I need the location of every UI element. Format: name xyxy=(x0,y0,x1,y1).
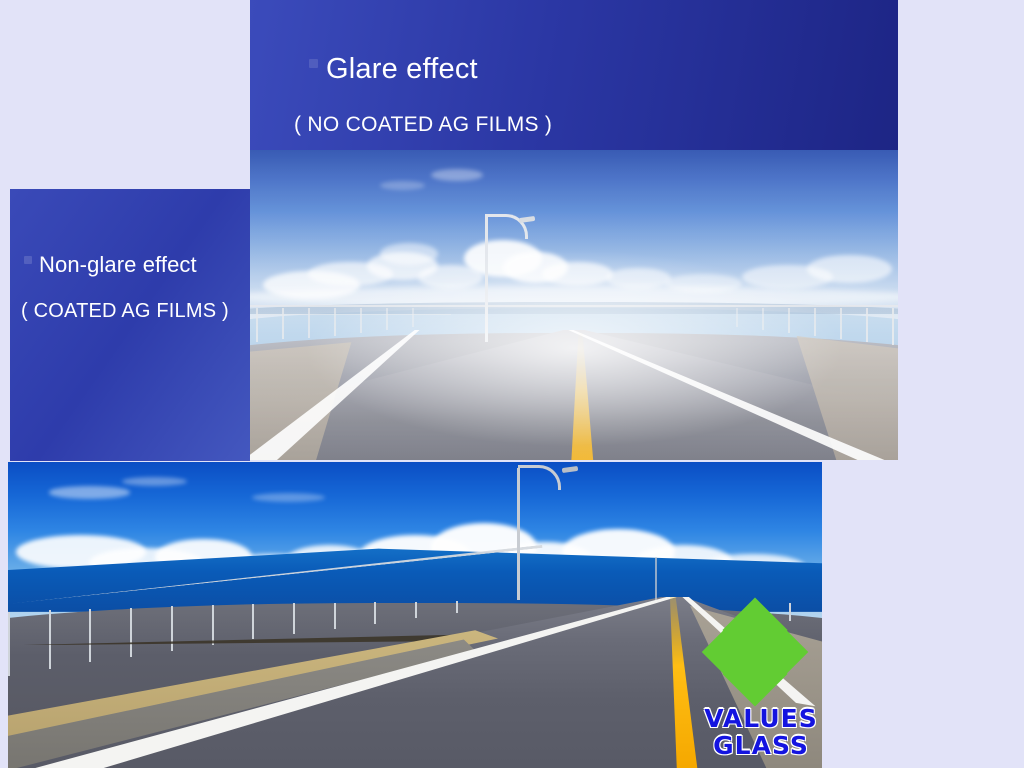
railing-post xyxy=(256,308,258,342)
railing-post xyxy=(212,605,214,645)
slide-canvas: Glare effect ( NO COATED AG FILMS ) Non-… xyxy=(0,0,1024,768)
street-lamp-pole-far xyxy=(655,557,657,600)
glare-title-text: Glare effect xyxy=(326,53,478,85)
distant-land xyxy=(250,302,898,314)
nonglare-title-text: Non-glare effect xyxy=(39,252,197,277)
railing-post xyxy=(89,609,91,663)
railing-post xyxy=(415,602,417,619)
glare-subtitle: ( NO COATED AG FILMS ) xyxy=(294,113,552,137)
cloud xyxy=(252,493,325,502)
railing-post xyxy=(308,308,310,337)
cloud xyxy=(49,486,130,498)
railing-post xyxy=(130,608,132,657)
glare-title: Glare effect xyxy=(326,53,478,86)
railing-top-bar xyxy=(250,305,898,307)
railing-post xyxy=(892,308,894,345)
nonglare-title-panel xyxy=(10,189,250,461)
cloud xyxy=(542,262,613,287)
bullet-icon xyxy=(24,256,32,264)
railing-post xyxy=(252,604,254,639)
cloud xyxy=(665,274,743,293)
bullet-icon xyxy=(309,59,318,68)
glare-photo xyxy=(250,150,898,460)
nonglare-photo: VALUES GLASS xyxy=(8,462,822,768)
railing-post xyxy=(8,612,10,676)
railing-post xyxy=(334,603,336,629)
railing-post xyxy=(374,602,376,623)
railing-post xyxy=(386,308,388,330)
railing-post xyxy=(814,308,816,336)
railing-post xyxy=(334,308,336,336)
railing-post xyxy=(736,308,738,327)
values-glass-logo: VALUES GLASS xyxy=(700,605,822,765)
railing-post xyxy=(866,308,868,342)
railing-post xyxy=(456,601,458,613)
cloud xyxy=(380,243,438,265)
nonglare-title: Non-glare effect xyxy=(39,252,197,278)
railing-post xyxy=(412,308,414,327)
nonglare-subtitle: ( COATED AG FILMS ) xyxy=(21,300,229,323)
logo-line-values: VALUES xyxy=(700,704,822,733)
railing-post xyxy=(840,308,842,339)
railing-post xyxy=(282,308,284,339)
clover-diamond-icon xyxy=(708,605,802,699)
railing-post xyxy=(762,308,764,330)
logo-center xyxy=(735,632,775,672)
logo-line-glass: GLASS xyxy=(700,731,822,760)
cloud xyxy=(807,255,891,283)
railing-post xyxy=(293,603,295,634)
railing-post xyxy=(49,610,51,668)
railing-post xyxy=(788,308,790,333)
cloud xyxy=(431,169,483,181)
railing-post xyxy=(171,606,173,650)
railing-post xyxy=(360,308,362,333)
railing-rail xyxy=(256,314,450,315)
